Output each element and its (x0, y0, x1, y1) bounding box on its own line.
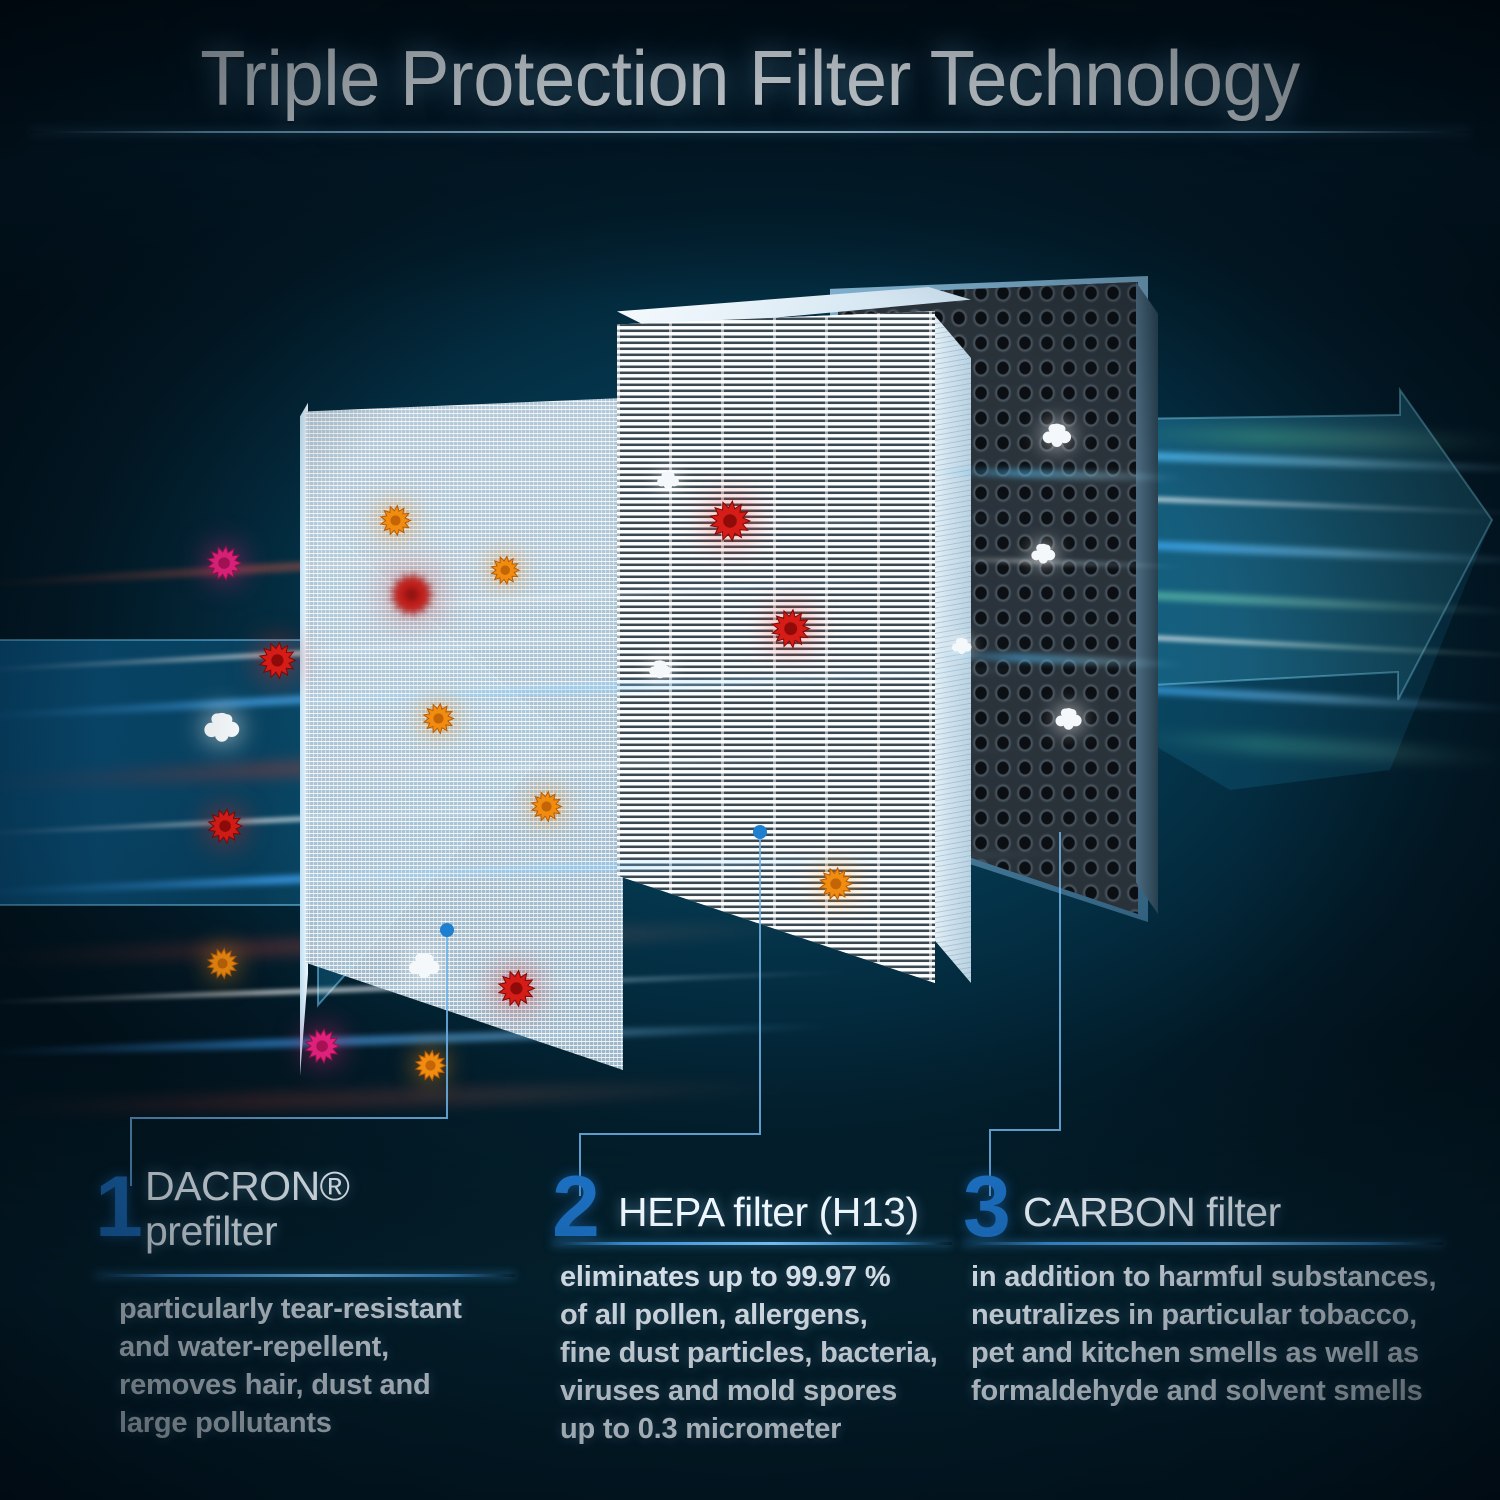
vignette-overlay (0, 0, 1500, 1500)
infographic-canvas: Triple Protection Filter Technology 1 DA… (0, 0, 1500, 1500)
